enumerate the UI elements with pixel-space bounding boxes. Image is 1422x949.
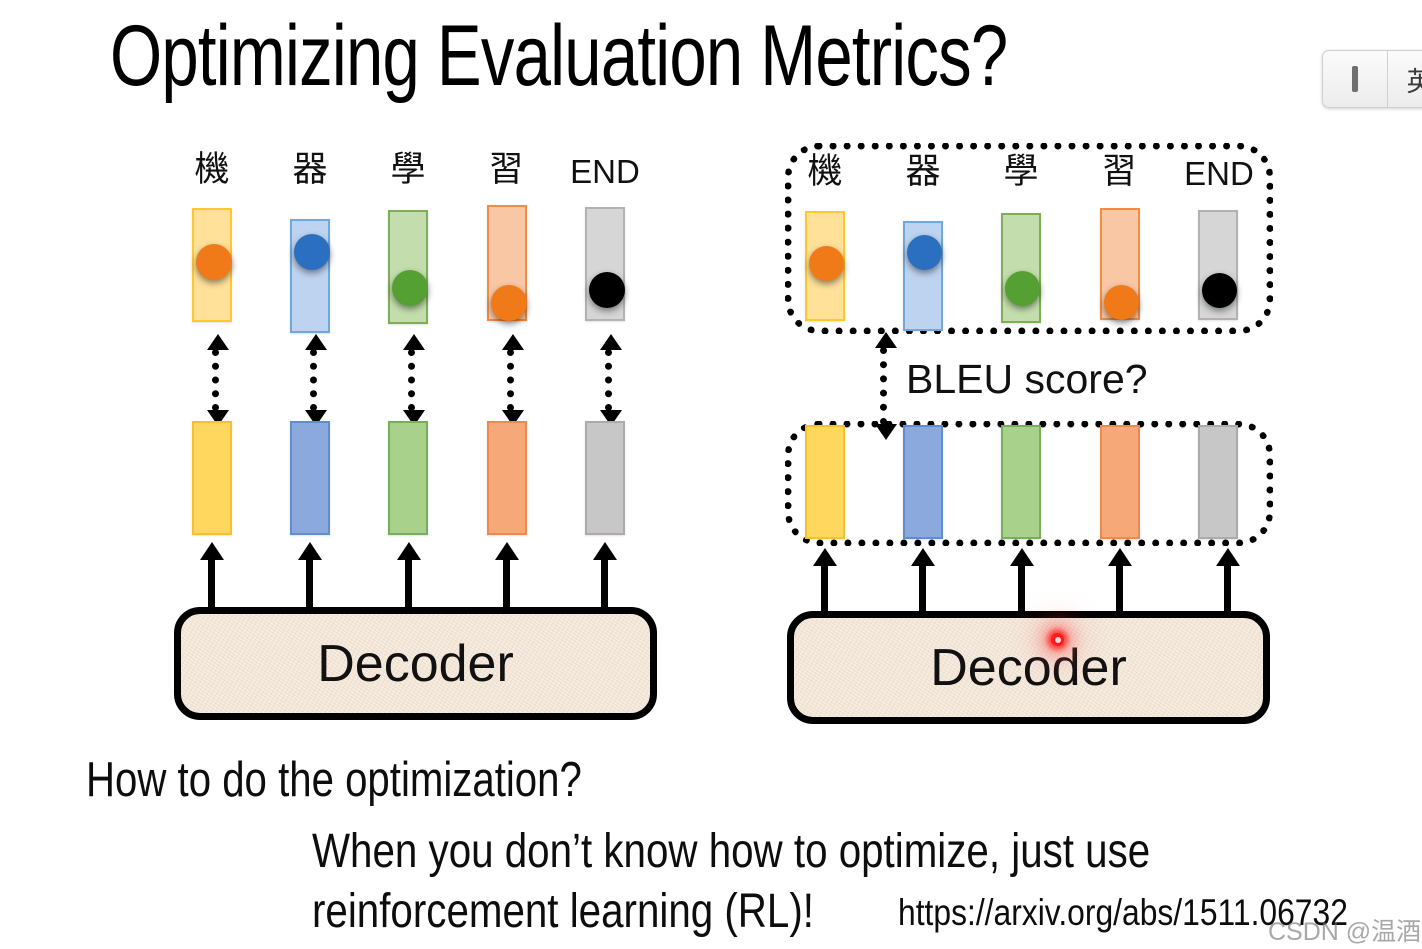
answer-line-1: When you don’t know how to optimize, jus… [312, 824, 1150, 879]
left-state-bar-0 [192, 421, 232, 535]
right-feed-arrow-2 [1018, 562, 1025, 612]
csdn-watermark: CSDN @温酒ss [1268, 912, 1422, 948]
left-feed-arrow-1 [306, 556, 313, 610]
right-col-label-2: 學 [986, 152, 1056, 192]
optimization-question: How to do the optimization? [86, 752, 582, 808]
left-output-dot-4 [589, 272, 625, 308]
left-col-label-4: END [570, 152, 640, 192]
right-output-dot-0 [809, 246, 844, 281]
left-state-bar-3 [487, 421, 527, 535]
right-decoder-box: Decoder [787, 611, 1270, 724]
left-col-label-2: 學 [373, 150, 443, 190]
right-feed-arrow-3 [1116, 562, 1123, 612]
right-output-bar-0 [805, 211, 845, 321]
ime-caret-cell[interactable] [1323, 51, 1387, 107]
right-state-bar-2 [1001, 425, 1041, 539]
right-col-label-3: 習 [1084, 152, 1154, 192]
ime-indicator[interactable]: 英 [1322, 50, 1422, 108]
left-feed-arrow-2 [405, 556, 412, 610]
right-state-bar-1 [903, 425, 943, 539]
left-output-bar-1 [290, 219, 330, 333]
left-output-bar-0 [192, 208, 232, 322]
left-decoder-box: Decoder [174, 607, 657, 720]
right-output-dot-3 [1104, 285, 1139, 320]
right-output-dot-1 [907, 235, 942, 270]
slide-canvas: Optimizing Evaluation Metrics? 英 機 器 學 習… [0, 0, 1422, 949]
right-output-dot-4 [1202, 273, 1237, 308]
right-feed-arrow-4 [1224, 562, 1231, 612]
left-state-bar-4 [585, 421, 625, 535]
left-output-dot-3 [491, 285, 527, 321]
left-link-arrow-1 [310, 349, 317, 411]
left-state-bar-2 [388, 421, 428, 535]
left-output-bar-4 [585, 207, 625, 321]
text-caret-icon [1352, 66, 1358, 92]
left-output-bar-2 [388, 210, 428, 324]
bleu-compare-arrow [880, 347, 887, 425]
left-output-dot-1 [294, 234, 330, 270]
right-output-bar-1 [903, 221, 943, 331]
left-link-arrow-4 [605, 349, 612, 411]
left-feed-arrow-3 [503, 556, 510, 610]
answer-line-2: reinforcement learning (RL)! [312, 884, 814, 939]
right-col-label-0: 機 [790, 152, 860, 192]
left-output-dot-2 [392, 270, 428, 306]
left-state-bar-1 [290, 421, 330, 535]
left-output-dot-0 [196, 244, 232, 280]
left-col-label-1: 器 [275, 150, 345, 190]
left-link-arrow-0 [212, 349, 219, 411]
bleu-score-label: BLEU score? [906, 356, 1148, 403]
right-feed-arrow-0 [821, 562, 828, 612]
ime-mode-cell[interactable]: 英 [1387, 51, 1422, 107]
left-col-label-3: 習 [471, 150, 541, 190]
left-feed-arrow-4 [601, 556, 608, 610]
right-feed-arrow-1 [919, 562, 926, 612]
left-col-label-0: 機 [177, 150, 247, 190]
right-state-bar-0 [805, 425, 845, 539]
right-state-bar-3 [1100, 425, 1140, 539]
left-feed-arrow-0 [208, 556, 215, 610]
right-col-label-1: 器 [888, 152, 958, 192]
right-col-label-4: END [1184, 154, 1254, 194]
page-title: Optimizing Evaluation Metrics? [110, 8, 1007, 104]
left-link-arrow-2 [408, 349, 415, 411]
left-link-arrow-3 [507, 349, 514, 411]
laser-pointer-dot [1051, 633, 1064, 646]
left-output-bar-3 [487, 205, 527, 321]
right-output-bar-3 [1100, 208, 1140, 320]
right-state-bar-4 [1198, 425, 1238, 539]
right-output-bar-4 [1198, 210, 1238, 320]
right-output-dot-2 [1005, 271, 1040, 306]
right-output-bar-2 [1001, 213, 1041, 323]
